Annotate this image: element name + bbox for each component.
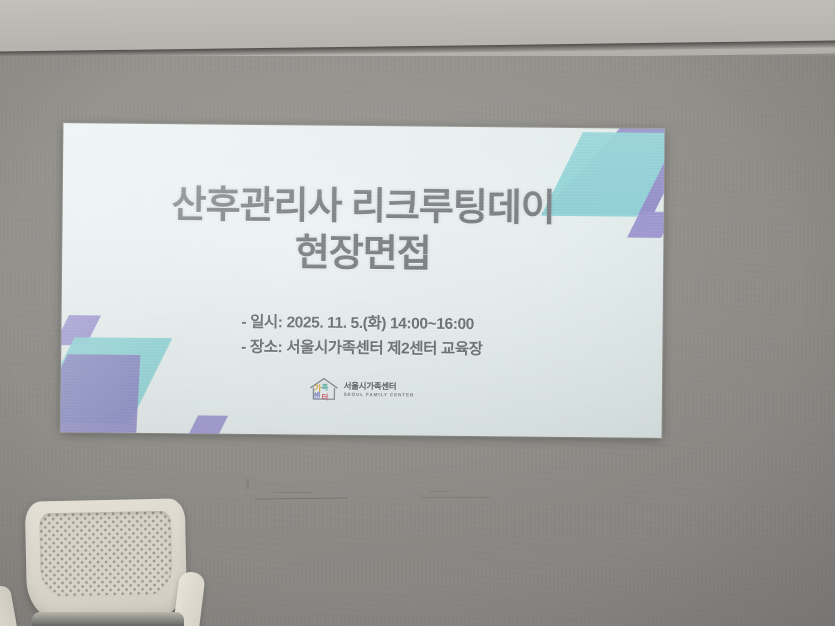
svg-text:족: 족 (321, 383, 328, 392)
office-chair (0, 486, 222, 626)
slide-detail-location: - 장소: 서울시가족센터 제2센터 교육장 (241, 335, 483, 362)
family-center-house-icon: 가 족 센 터 (309, 377, 339, 402)
chair-armrest-left (0, 584, 18, 626)
wall-scuff-mark (428, 491, 450, 492)
slide-title: 산후관리사 리크루팅데이 현장면접 (171, 184, 555, 277)
slide-detail-datetime: - 일시: 2025. 11. 5.(화) 14:00~16:00 (241, 310, 483, 337)
room-photograph: 산후관리사 리크루팅데이 현장면접 - 일시: 2025. 11. 5.(화) … (0, 0, 835, 626)
wall-scuff-mark (246, 479, 249, 489)
slide-details: - 일시: 2025. 11. 5.(화) 14:00~16:00 - 장소: … (241, 310, 483, 363)
chair-seat (32, 612, 184, 626)
slide-title-line-1: 산후관리사 리크루팅데이 (171, 184, 555, 230)
projection-screen: 산후관리사 리크루팅데이 현장면접 - 일시: 2025. 11. 5.(화) … (61, 123, 665, 438)
wall-scuff-mark (272, 492, 312, 493)
chair-perforated-mesh (39, 511, 173, 598)
organization-name-block: 서울시가족센터 SEOUL FAMILY CENTER (344, 382, 415, 398)
slide-title-line-2: 현장면접 (171, 231, 555, 277)
svg-text:터: 터 (321, 393, 328, 402)
organization-name-korean: 서울시가족센터 (344, 382, 415, 391)
svg-text:센: 센 (313, 391, 320, 401)
slide-content: 산후관리사 리크루팅데이 현장면접 - 일시: 2025. 11. 5.(화) … (61, 123, 665, 438)
organization-name-english: SEOUL FAMILY CENTER (344, 393, 415, 398)
chair-backrest (25, 498, 187, 619)
organization-logo: 가 족 센 터 서울시가족센터 SEOUL FAMILY CENTER (309, 377, 415, 403)
